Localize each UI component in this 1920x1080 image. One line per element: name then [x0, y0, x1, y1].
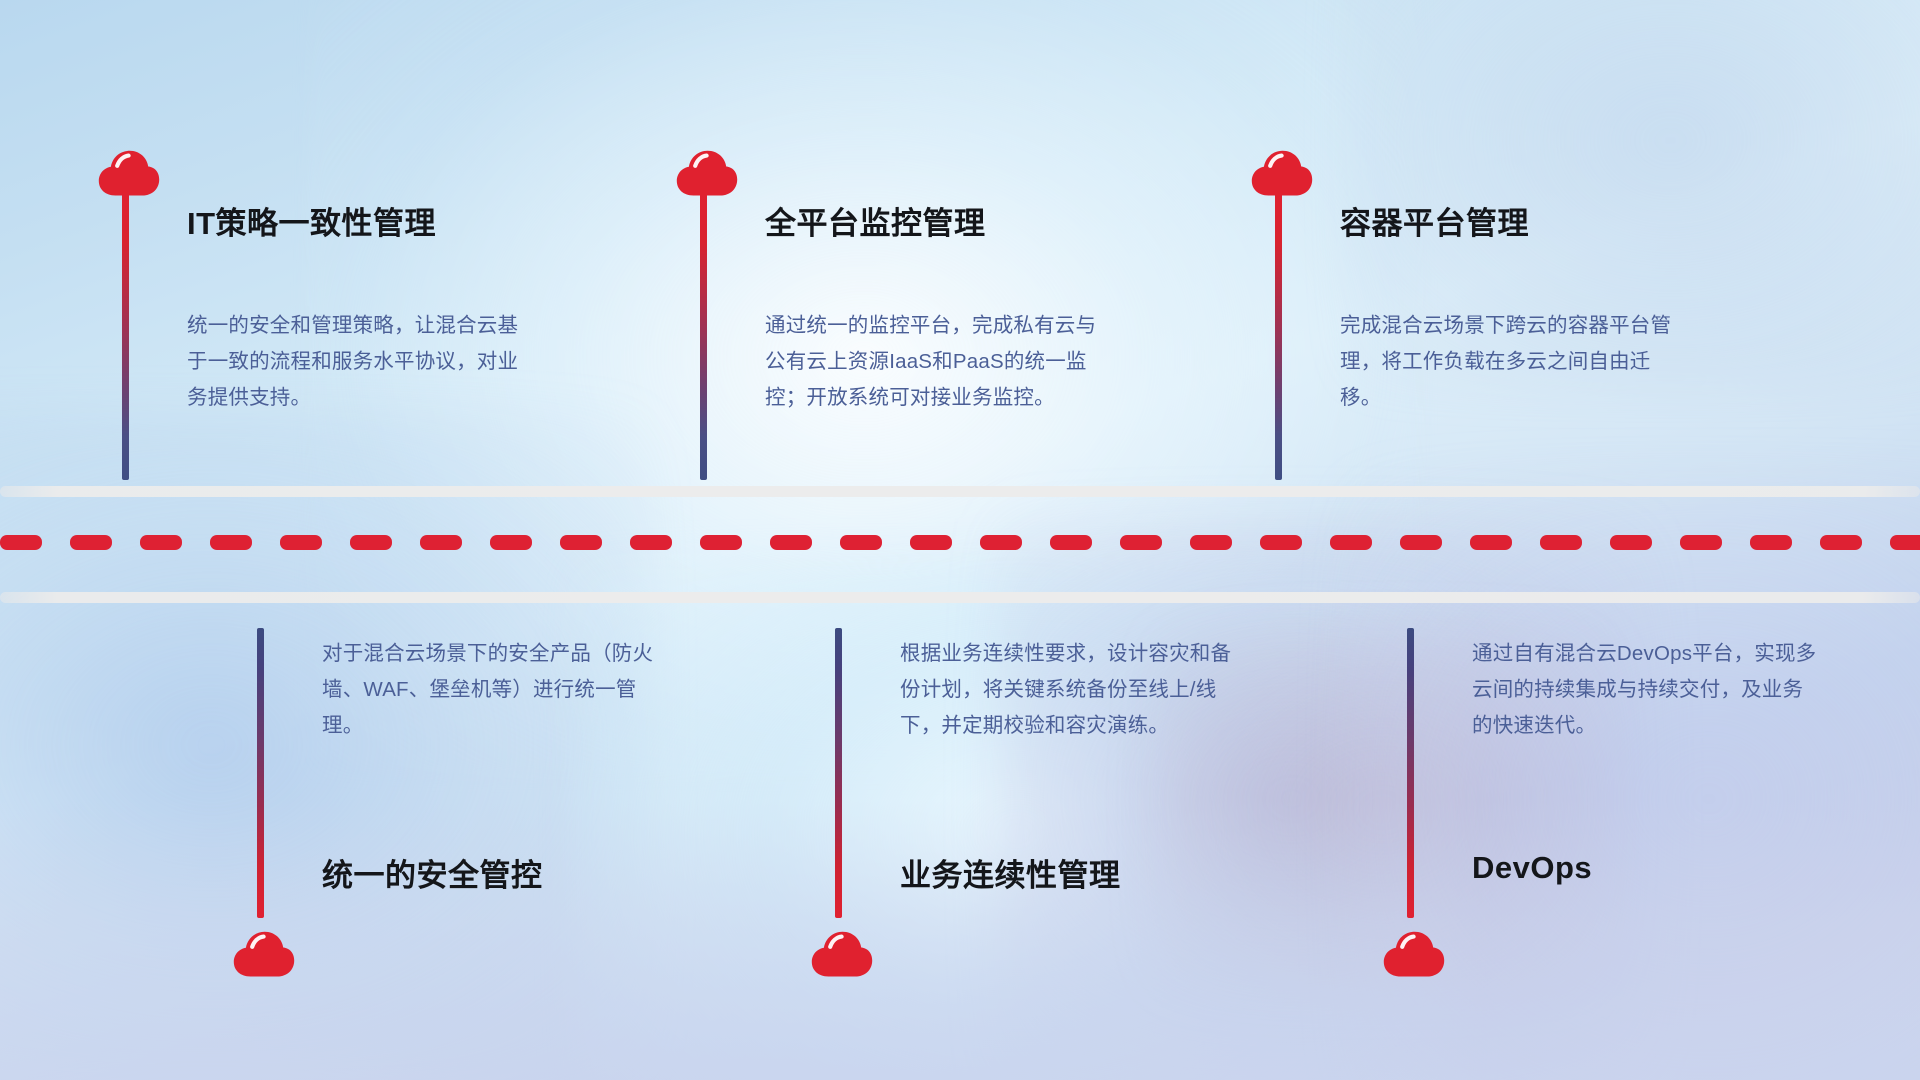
- feature-body: 通过统一的监控平台，完成私有云与公有云上资源IaaS和PaaS的统一监控；开放系…: [765, 308, 1115, 416]
- road-dash: [0, 535, 42, 550]
- feature-heading: 容器平台管理: [1340, 198, 1529, 243]
- column-stem: [700, 190, 707, 480]
- feature-body: 完成混合云场景下跨云的容器平台管理，将工作负载在多云之间自由迁移。: [1340, 308, 1690, 416]
- road-dashed-line: [0, 534, 1920, 550]
- road-dash: [840, 535, 882, 550]
- cloud-icon: [811, 931, 873, 977]
- road-dash: [140, 535, 182, 550]
- road-dash: [280, 535, 322, 550]
- road-dash: [630, 535, 672, 550]
- road-dash: [700, 535, 742, 550]
- road-dash: [560, 535, 602, 550]
- road-dash: [980, 535, 1022, 550]
- road-divider: [0, 486, 1920, 606]
- feature-body: 根据业务连续性要求，设计容灾和备份计划，将关键系统备份至线上/线下，并定期校验和…: [900, 636, 1250, 744]
- cloud-icon: [98, 150, 160, 196]
- feature-heading: 业务连续性管理: [900, 850, 1121, 895]
- road-solid-line-top: [0, 486, 1920, 497]
- feature-heading: 全平台监控管理: [765, 198, 986, 243]
- road-dash: [350, 535, 392, 550]
- feature-body: 通过自有混合云DevOps平台，实现多云间的持续集成与持续交付，及业务的快速迭代…: [1472, 636, 1822, 744]
- feature-body: 统一的安全和管理策略，让混合云基于一致的流程和服务水平协议，对业务提供支持。: [187, 308, 537, 416]
- road-dash: [1050, 535, 1092, 550]
- road-dash: [770, 535, 812, 550]
- road-dash: [1680, 535, 1722, 550]
- road-dash: [1890, 535, 1920, 550]
- road-solid-line-bottom: [0, 592, 1920, 603]
- road-dash: [1190, 535, 1232, 550]
- road-dash: [910, 535, 952, 550]
- road-dash: [1540, 535, 1582, 550]
- column-stem: [257, 628, 264, 918]
- column-stem: [1275, 190, 1282, 480]
- road-dash: [1120, 535, 1162, 550]
- road-dash: [1820, 535, 1862, 550]
- column-stem: [835, 628, 842, 918]
- feature-heading: DevOps: [1472, 850, 1592, 886]
- feature-heading: IT策略一致性管理: [187, 198, 436, 243]
- road-dash: [1470, 535, 1512, 550]
- road-dash: [1610, 535, 1652, 550]
- road-dash: [70, 535, 112, 550]
- feature-heading: 统一的安全管控: [322, 850, 543, 895]
- road-dash: [1750, 535, 1792, 550]
- cloud-icon: [676, 150, 738, 196]
- feature-body: 对于混合云场景下的安全产品（防火墙、WAF、堡垒机等）进行统一管理。: [322, 636, 672, 744]
- cloud-icon: [1251, 150, 1313, 196]
- infographic-canvas: IT策略一致性管理 统一的安全和管理策略，让混合云基于一致的流程和服务水平协议，…: [0, 0, 1920, 1080]
- column-stem: [1407, 628, 1414, 918]
- road-dash: [420, 535, 462, 550]
- road-dash: [490, 535, 532, 550]
- road-dash: [1330, 535, 1372, 550]
- road-dash: [1260, 535, 1302, 550]
- cloud-icon: [233, 931, 295, 977]
- column-stem: [122, 190, 129, 480]
- road-dash: [1400, 535, 1442, 550]
- cloud-icon: [1383, 931, 1445, 977]
- road-dash: [210, 535, 252, 550]
